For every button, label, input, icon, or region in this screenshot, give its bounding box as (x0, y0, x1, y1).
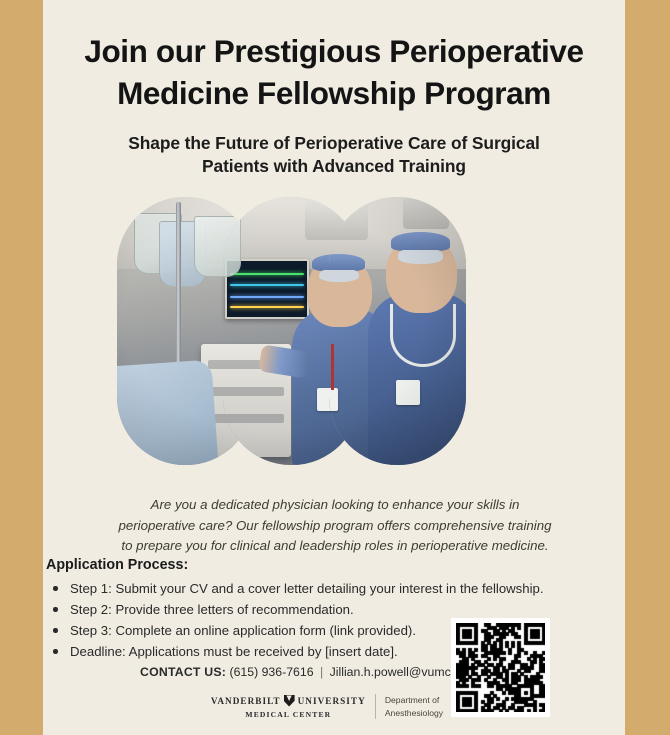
step-text: Step 3: Complete an online application f… (70, 623, 416, 638)
operating-room-photo (329, 197, 466, 465)
intro-paragraph: Are you a dedicated physician looking to… (20, 495, 650, 556)
step-text: Step 1: Submit your CV and a cover lette… (70, 581, 544, 596)
step-text: Deadline: Applications must be received … (70, 644, 398, 659)
vanderbilt-shield-icon (284, 695, 295, 707)
photo-arch-right (329, 197, 466, 465)
application-steps-list: Step 1: Submit your CV and a cover lette… (46, 580, 644, 661)
page-subtitle: Shape the Future of Perioperative Care o… (79, 132, 589, 179)
bullet-icon (53, 628, 58, 633)
photo-collage (117, 197, 466, 465)
bullet-icon (53, 586, 58, 591)
contact-separator: | (317, 665, 326, 679)
vanderbilt-wordmark-right: UNIVERSITY (298, 696, 366, 706)
list-item: Step 3: Complete an online application f… (46, 622, 644, 640)
bullet-icon (53, 649, 58, 654)
vanderbilt-wordmark-left: VANDERBILT (211, 696, 281, 706)
left-gold-border (0, 0, 43, 735)
lockup-divider (375, 694, 376, 719)
step-text: Step 2: Provide three letters of recomme… (70, 602, 354, 617)
poster-flyer: Join our Prestigious Perioperative Medic… (0, 0, 670, 735)
list-item: Step 1: Submit your CV and a cover lette… (46, 580, 644, 598)
contact-phone[interactable]: (615) 936-7616 (229, 665, 313, 679)
bullet-icon (53, 607, 58, 612)
contact-line: CONTACT US: (615) 936-7616 | Jillian.h.p… (0, 665, 670, 679)
page-title: Join our Prestigious Perioperative Medic… (65, 31, 603, 115)
list-item: Deadline: Applications must be received … (46, 643, 644, 661)
application-process-section: Application Process: Step 1: Submit your… (46, 557, 644, 664)
application-process-title: Application Process: (46, 557, 644, 573)
footer-logo-lockup: VANDERBILT UNIVERSITY MEDICAL CENTER Dep… (0, 694, 670, 719)
contact-label: CONTACT US: (140, 665, 226, 679)
list-item: Step 2: Provide three letters of recomme… (46, 601, 644, 619)
department-name: Department of Anesthesiology (385, 694, 443, 718)
vanderbilt-medical-center-line: MEDICAL CENTER (211, 710, 366, 719)
vanderbilt-logo: VANDERBILT UNIVERSITY MEDICAL CENTER (211, 695, 366, 719)
